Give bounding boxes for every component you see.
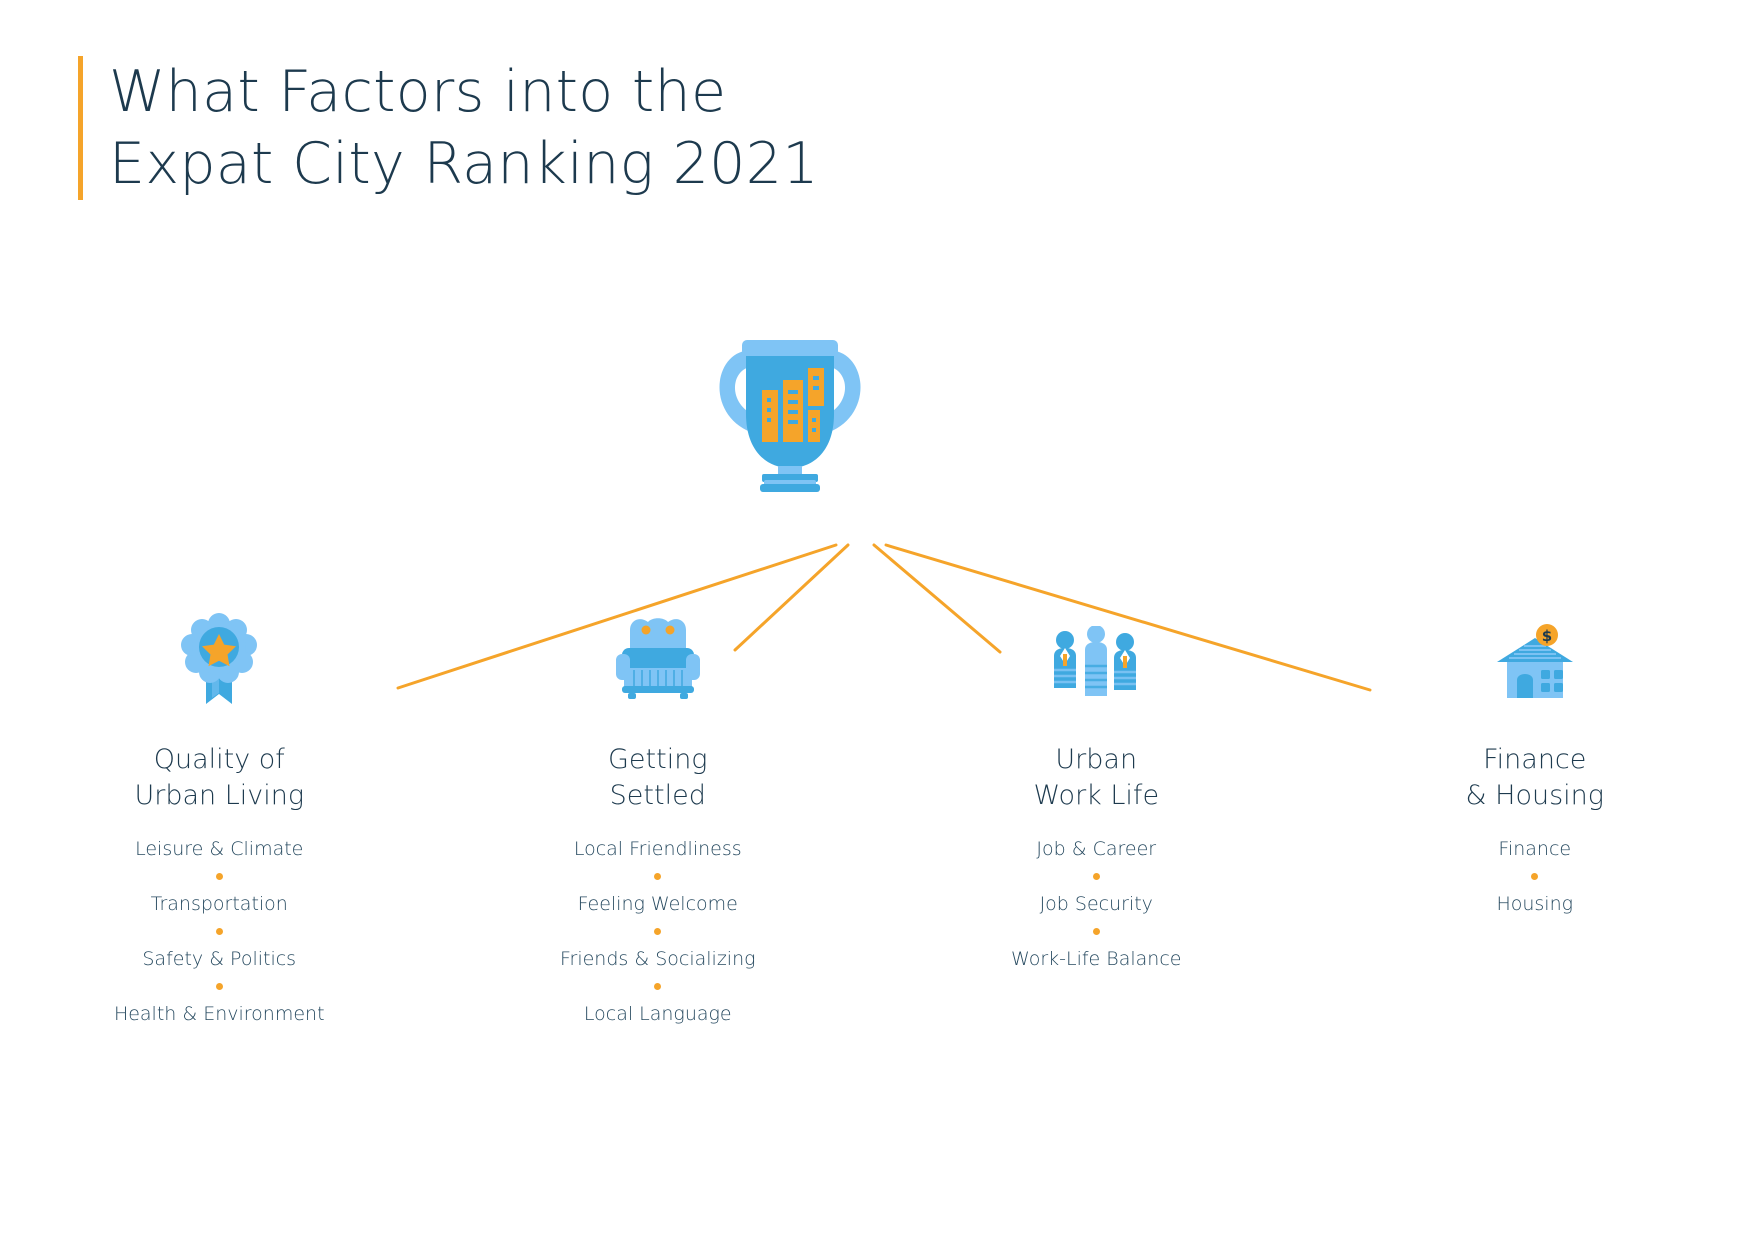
category-items: Job & Career Job Security Work-Life Bala… [1011, 836, 1181, 972]
title-lines: What Factors into the Expat City Ranking… [109, 56, 819, 200]
category-title: Quality of Urban Living [134, 742, 304, 814]
category-title: Getting Settled [608, 742, 708, 814]
list-item: Work-Life Balance [1011, 946, 1181, 972]
category-title: Urban Work Life [1033, 742, 1159, 814]
list-item: Housing [1496, 891, 1573, 917]
page-title: What Factors into the Expat City Ranking… [78, 56, 819, 200]
category-items: Finance Housing [1496, 836, 1573, 917]
people-group-icon [1049, 612, 1143, 704]
item-separator-dot [216, 928, 223, 935]
list-item: Finance [1498, 836, 1571, 862]
list-item: Health & Environment [114, 1001, 325, 1027]
title-line-1: What Factors into the [109, 56, 819, 128]
category-items: Local Friendliness Feeling Welcome Frien… [560, 836, 756, 1027]
list-item: Job & Career [1036, 836, 1156, 862]
category-title: Finance & Housing [1466, 742, 1604, 814]
category-items: Leisure & Climate Transportation Safety … [114, 836, 325, 1027]
title-line-2: Expat City Ranking 2021 [109, 128, 819, 200]
category-title-line-2: Settled [608, 778, 708, 814]
item-separator-dot [216, 983, 223, 990]
list-item: Safety & Politics [142, 946, 296, 972]
category-title-line-2: & Housing [1466, 778, 1604, 814]
item-separator-dot [1093, 928, 1100, 935]
list-item: Local Language [584, 1001, 732, 1027]
item-separator-dot [216, 873, 223, 880]
list-item: Feeling Welcome [578, 891, 738, 917]
category-title-line-2: Urban Living [134, 778, 304, 814]
trophy-icon [690, 318, 890, 498]
svg-text:$: $ [1542, 627, 1552, 645]
award-rosette-icon [176, 612, 262, 704]
list-item: Local Friendliness [574, 836, 742, 862]
list-item: Transportation [151, 891, 288, 917]
category-title-line-1: Urban [1033, 742, 1159, 778]
list-item: Job Security [1040, 891, 1153, 917]
category-title-line-2: Work Life [1033, 778, 1159, 814]
category-column-getting-settled: Getting Settled Local Friendliness Feeli… [439, 612, 878, 1027]
list-item: Friends & Socializing [560, 946, 756, 972]
category-column-quality-of-urban-living: Quality of Urban Living Leisure & Climat… [0, 612, 439, 1027]
item-separator-dot [1531, 873, 1538, 880]
item-separator-dot [654, 928, 661, 935]
item-separator-dot [654, 983, 661, 990]
category-title-line-1: Finance [1466, 742, 1604, 778]
title-accent-bar [78, 56, 83, 200]
category-column-finance-and-housing: $ Finance & Housing Finance Housing [1316, 612, 1754, 1027]
house-with-coin-icon: $ [1495, 612, 1575, 704]
category-columns: Quality of Urban Living Leisure & Climat… [0, 612, 1754, 1027]
list-item: Leisure & Climate [135, 836, 303, 862]
category-title-line-1: Getting [608, 742, 708, 778]
category-column-urban-work-life: Urban Work Life Job & Career Job Securit… [877, 612, 1316, 1027]
item-separator-dot [654, 873, 661, 880]
category-title-line-1: Quality of [134, 742, 304, 778]
item-separator-dot [1093, 873, 1100, 880]
armchair-icon [608, 612, 708, 704]
